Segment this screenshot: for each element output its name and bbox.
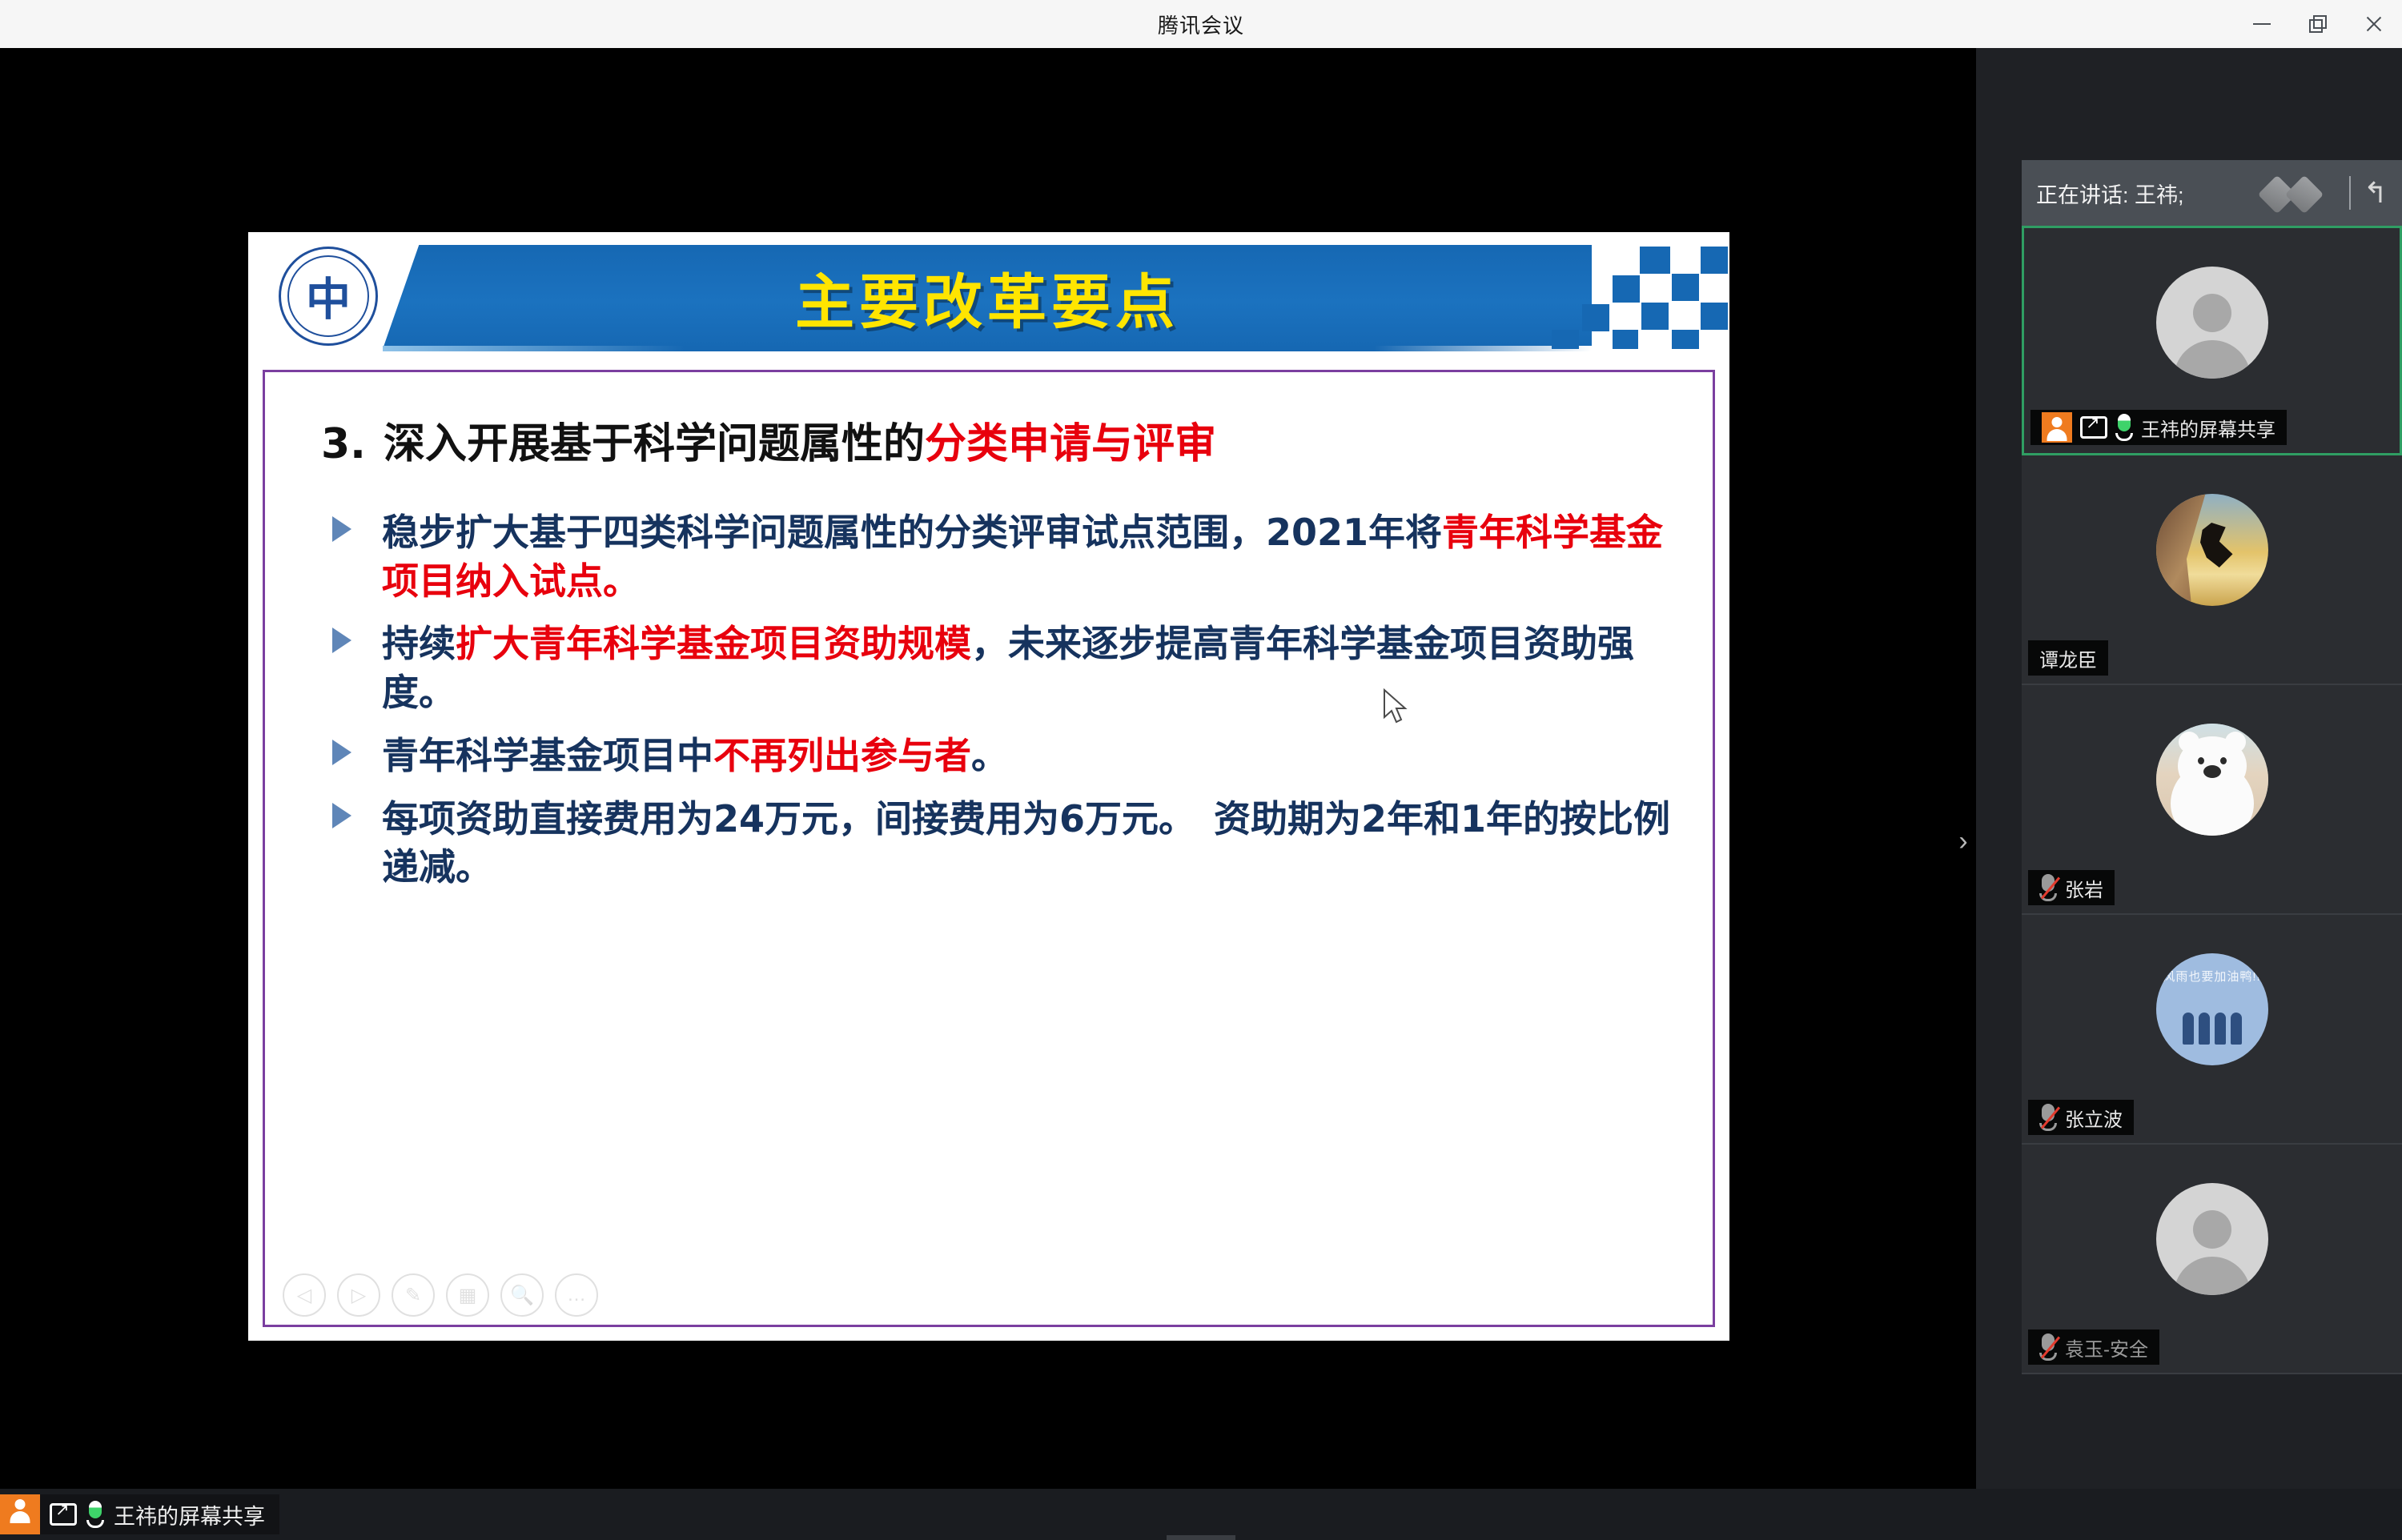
bullet-arrow-icon (332, 516, 351, 542)
taskbar-center-indicator (1167, 1535, 1235, 1540)
banner-mosaic-decoration (1544, 247, 1728, 349)
prev-slide-icon[interactable]: ◁ (283, 1273, 326, 1317)
tile-label: 张立波 (2028, 1100, 2134, 1135)
speaking-banner: 正在讲话: 王祎; ↰ (2022, 160, 2402, 226)
participant-name: 张立波 (2065, 1104, 2123, 1132)
participant-rail: 正在讲话: 王祎; ↰ 王祎的屏幕共享 (1976, 48, 2402, 1489)
zoom-icon[interactable]: 🔍 (500, 1273, 544, 1317)
participant-name: 王祎的屏幕共享 (2141, 414, 2275, 442)
mic-on-icon (2115, 414, 2133, 441)
window-titlebar: 腾讯会议 (0, 0, 2402, 48)
tencent-meeting-logo-icon (2259, 172, 2336, 214)
speaking-label: 正在讲话: 王祎; (2036, 178, 2184, 209)
mic-on-icon (86, 1501, 104, 1528)
minimize-button[interactable] (2234, 0, 2290, 48)
list-item: 青年科学基金项目中不再列出参与者。 (313, 732, 1690, 780)
list-item: 稳步扩大基于四类科学问题属性的分类评审试点范围，2021年将青年科学基金项目纳入… (313, 508, 1690, 605)
avatar-climber (2198, 523, 2233, 567)
mic-muted-icon (2039, 874, 2057, 901)
heading-number: 3. (321, 420, 366, 468)
participant-tile[interactable]: 谭龙臣 (2022, 455, 2402, 685)
avatar-rock (2156, 494, 2206, 606)
restore-button[interactable] (2290, 0, 2346, 48)
minimize-icon (2253, 23, 2271, 25)
close-button[interactable] (2346, 0, 2402, 48)
divider (2349, 176, 2351, 210)
window-title: 腾讯会议 (1158, 10, 1244, 39)
next-slide-icon[interactable]: ▷ (337, 1273, 380, 1317)
bullet-text: 稳步扩大基于四类科学问题属性的分类评审试点范围，2021年将青年科学基金项目纳入… (382, 508, 1690, 605)
participant-name: 谭龙臣 (2039, 644, 2097, 672)
collapse-panel-chevron-right-icon[interactable]: › (1950, 828, 1976, 854)
participant-tiles: 王祎的屏幕共享 谭龙臣 (2022, 226, 2402, 1374)
taskbar: 王祎的屏幕共享 (0, 1489, 2402, 1540)
avatar (2156, 724, 2268, 836)
participant-tile[interactable]: 风雨也要加油鸭!! 张立波 (2022, 915, 2402, 1145)
close-icon (2364, 14, 2384, 34)
tile-label: 王祎的屏幕共享 (2030, 410, 2287, 445)
slide-body: 3.深入开展基于科学问题属性的分类申请与评审 稳步扩大基于四类科学问题属性的分类… (263, 370, 1715, 1327)
participant-tile[interactable]: 袁玉-安全 (2022, 1145, 2402, 1374)
screen-share-icon (50, 1503, 77, 1526)
slide-bullet-list: 稳步扩大基于四类科学问题属性的分类评审试点范围，2021年将青年科学基金项目纳入… (313, 508, 1690, 906)
restore-icon (2309, 15, 2327, 33)
heading-text-black: 深入开展基于科学问题属性的 (384, 420, 925, 468)
slide-grid-icon[interactable]: ▦ (446, 1273, 489, 1317)
avatar-caption: 风雨也要加油鸭!! (2156, 968, 2268, 985)
bullet-arrow-icon (332, 628, 351, 653)
meeting-app-window: 腾讯会议 主要改革要点 (0, 0, 2402, 1540)
list-item: 持续扩大青年科学基金项目资助规模，未来逐步提高青年科学基金项目资助强度。 (313, 620, 1690, 716)
heading-text-red: 分类申请与评审 (925, 420, 1216, 468)
slide-title: 主要改革要点 (383, 245, 1592, 349)
avatar: 风雨也要加油鸭!! (2156, 953, 2268, 1065)
mic-muted-icon (2039, 1104, 2057, 1131)
shared-screen-stage[interactable]: 主要改革要点 中 (0, 48, 1976, 1489)
mic-muted-icon (2039, 1333, 2057, 1361)
avatar (2156, 267, 2268, 379)
taskbar-item-label: 王祎的屏幕共享 (114, 1499, 265, 1530)
university-logo: 中 (279, 247, 378, 346)
bullet-arrow-icon (332, 803, 351, 828)
bullet-text: 每项资助直接费用为24万元，间接费用为6万元。 资助期为2年和1年的按比例递减。 (382, 795, 1690, 892)
bullet-text: 青年科学基金项目中不再列出参与者。 (382, 732, 1690, 780)
more-options-icon[interactable]: … (555, 1273, 598, 1317)
bullet-arrow-icon (332, 740, 351, 765)
participant-tile-screen-share[interactable]: 王祎的屏幕共享 (2022, 226, 2402, 455)
presentation-toolbar[interactable]: ◁ ▷ ✎ ▦ 🔍 … (283, 1273, 598, 1317)
avatar (2156, 494, 2268, 606)
participant-tile[interactable]: 张岩 (2022, 685, 2402, 915)
presentation-slide: 主要改革要点 中 (248, 232, 1729, 1341)
reply-arrow-icon[interactable]: ↰ (2364, 178, 2388, 207)
tile-label: 张岩 (2028, 870, 2115, 905)
bullet-text: 持续扩大青年科学基金项目资助规模，未来逐步提高青年科学基金项目资助强度。 (382, 620, 1690, 716)
slide-heading: 3.深入开展基于科学问题属性的分类申请与评审 (321, 419, 1682, 471)
logo-mark: 中 (306, 264, 351, 329)
person-icon (0, 1494, 40, 1534)
tile-label: 谭龙臣 (2028, 640, 2108, 676)
slide-banner: 主要改革要点 中 (248, 239, 1729, 357)
window-controls (2234, 0, 2402, 48)
screen-share-icon (2080, 416, 2107, 439)
pen-icon[interactable]: ✎ (392, 1273, 435, 1317)
taskbar-item-screen-share[interactable]: 王祎的屏幕共享 (0, 1494, 279, 1534)
participant-name: 袁玉-安全 (2065, 1333, 2148, 1362)
avatar (2156, 1183, 2268, 1295)
tile-label: 袁玉-安全 (2028, 1329, 2159, 1365)
person-icon (2042, 412, 2072, 443)
list-item: 每项资助直接费用为24万元，间接费用为6万元。 资助期为2年和1年的按比例递减。 (313, 795, 1690, 892)
avatar-figures (2183, 1013, 2242, 1045)
participant-name: 张岩 (2065, 874, 2103, 902)
